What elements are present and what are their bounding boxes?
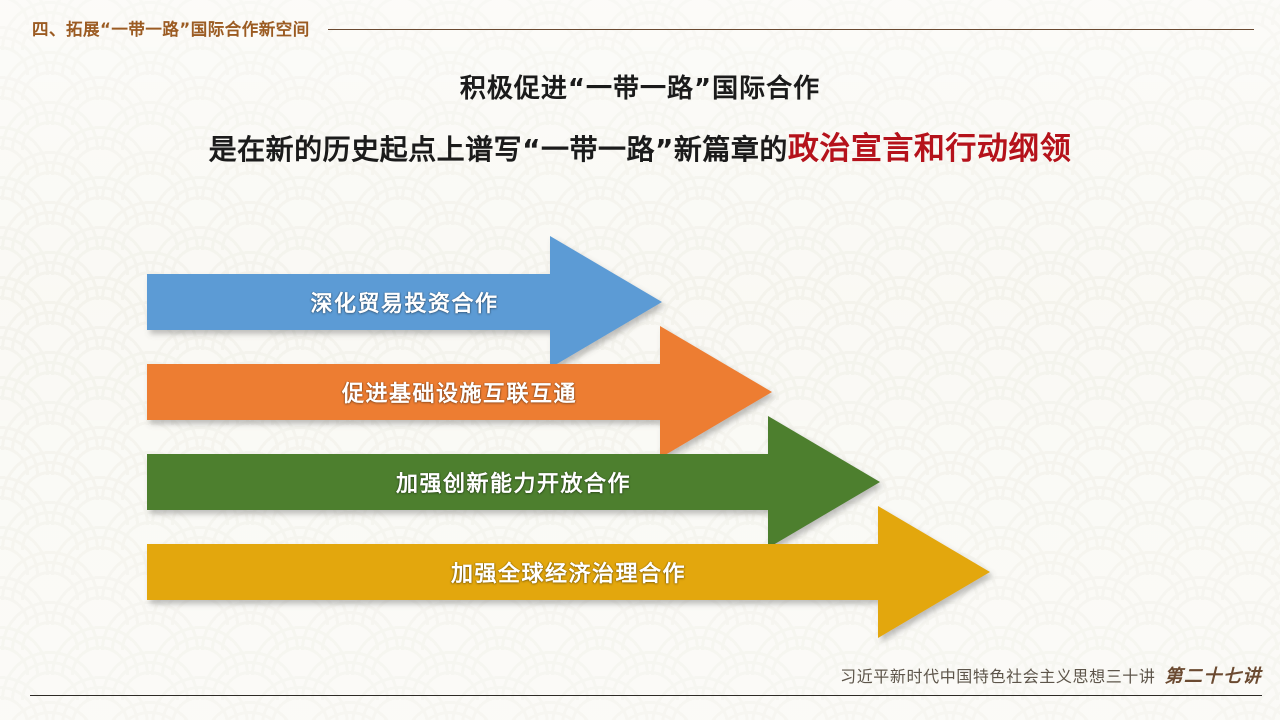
title-emphasis-text: 政治宣言和行动纲领	[788, 131, 1072, 167]
footer-text-group: 习近平新时代中国特色社会主义思想三十讲 第二十七讲	[840, 662, 1262, 688]
arrow-shape-4	[0, 502, 1030, 642]
footer-divider-rule	[30, 695, 1262, 696]
arrow-item-4[interactable]: 加强全球经济治理合作	[0, 502, 1030, 642]
arrow-path-4	[147, 506, 990, 638]
footer-lecture-number: 第二十七讲	[1165, 662, 1263, 688]
footer-series-title: 习近平新时代中国特色社会主义思想三十讲	[840, 663, 1155, 687]
title-line-secondary: 是在新的历史起点上谱写“一带一路”新篇章的政治宣言和行动纲领	[0, 131, 1280, 168]
slide-title-block: 积极促进“一带一路”国际合作 是在新的历史起点上谱写“一带一路”新篇章的政治宣言…	[0, 74, 1280, 168]
slide-header: 四、拓展“一带一路”国际合作新空间	[32, 14, 1254, 42]
slide-footer: 习近平新时代中国特色社会主义思想三十讲 第二十七讲	[30, 662, 1262, 706]
title-line-primary: 积极促进“一带一路”国际合作	[0, 74, 1280, 105]
slide-canvas: 四、拓展“一带一路”国际合作新空间 积极促进“一带一路”国际合作 是在新的历史起…	[0, 0, 1280, 720]
arrow-diagram: 深化贸易投资合作 促进基础设施互联互通	[0, 232, 1280, 652]
header-divider-rule	[328, 29, 1254, 30]
header-section-title: 四、拓展“一带一路”国际合作新空间	[32, 16, 310, 40]
title-line-secondary-prefix: 是在新的历史起点上谱写“一带一路”新篇章的	[209, 133, 788, 166]
